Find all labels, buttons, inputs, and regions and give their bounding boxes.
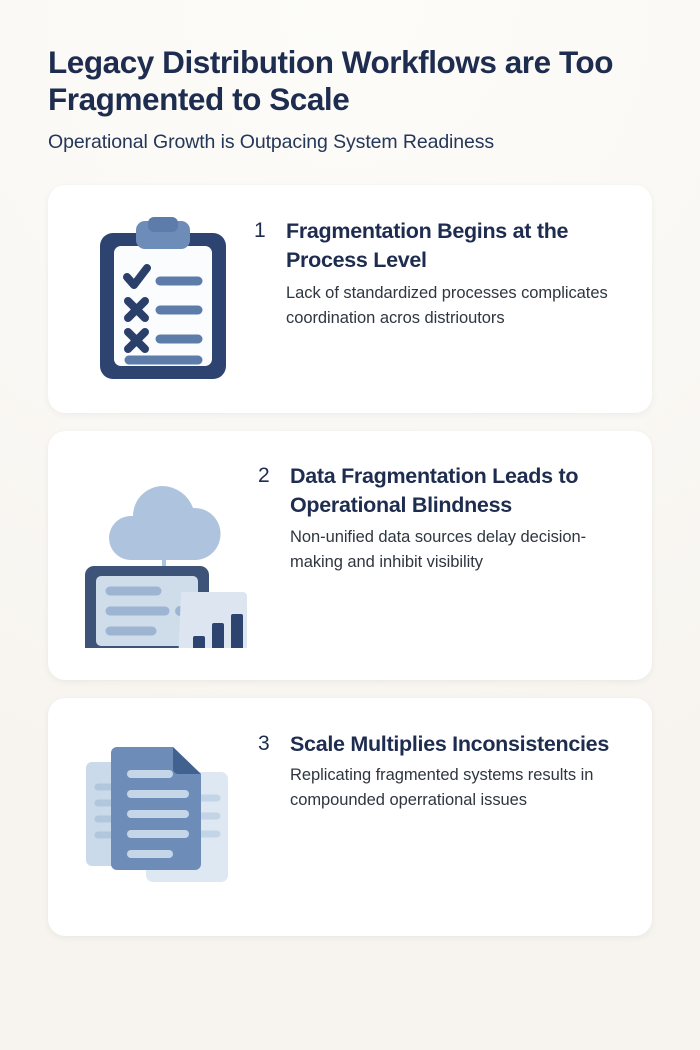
- card-number: 1: [254, 217, 278, 245]
- infographic-page: Legacy Distribution Workflows are Too Fr…: [0, 0, 700, 1050]
- card-item[interactable]: 2 Data Fragmentation Leads to Operationa…: [48, 431, 652, 680]
- page-title: Legacy Distribution Workflows are Too Fr…: [48, 44, 648, 117]
- card-list: 1 Fragmentation Begins at the Process Le…: [48, 185, 652, 936]
- card-description: Replicating fragmented systems results i…: [290, 763, 624, 813]
- card-title: Scale Multiplies Inconsistencies: [290, 730, 624, 758]
- card-description: Non-unified data sources delay decision-…: [290, 525, 624, 575]
- card-item[interactable]: 3 Scale Multiplies Inconsistencies Repli…: [48, 698, 652, 936]
- stacked-documents-icon: [72, 738, 258, 896]
- card-text: Scale Multiplies Inconsistencies Replica…: [290, 730, 624, 812]
- page-subtitle: Operational Growth is Outpacing System R…: [48, 131, 652, 154]
- card-body: 2 Data Fragmentation Leads to Operationa…: [258, 453, 624, 574]
- card-body: 3 Scale Multiplies Inconsistencies Repli…: [258, 720, 624, 812]
- header: Legacy Distribution Workflows are Too Fr…: [48, 0, 652, 154]
- card-item[interactable]: 1 Fragmentation Begins at the Process Le…: [48, 185, 652, 413]
- card-title: Fragmentation Begins at the Process Leve…: [286, 217, 624, 273]
- card-number: 2: [258, 462, 282, 490]
- cloud-monitor-report-icon: [72, 464, 258, 648]
- clipboard-checklist-icon: [72, 215, 254, 383]
- card-text: Fragmentation Begins at the Process Leve…: [286, 217, 624, 330]
- card-title: Data Fragmentation Leads to Operational …: [290, 462, 624, 518]
- card-number: 3: [258, 730, 282, 758]
- card-text: Data Fragmentation Leads to Operational …: [290, 462, 624, 574]
- card-description: Lack of standardized processes complicat…: [286, 281, 624, 331]
- card-body: 1 Fragmentation Begins at the Process Le…: [254, 207, 624, 330]
